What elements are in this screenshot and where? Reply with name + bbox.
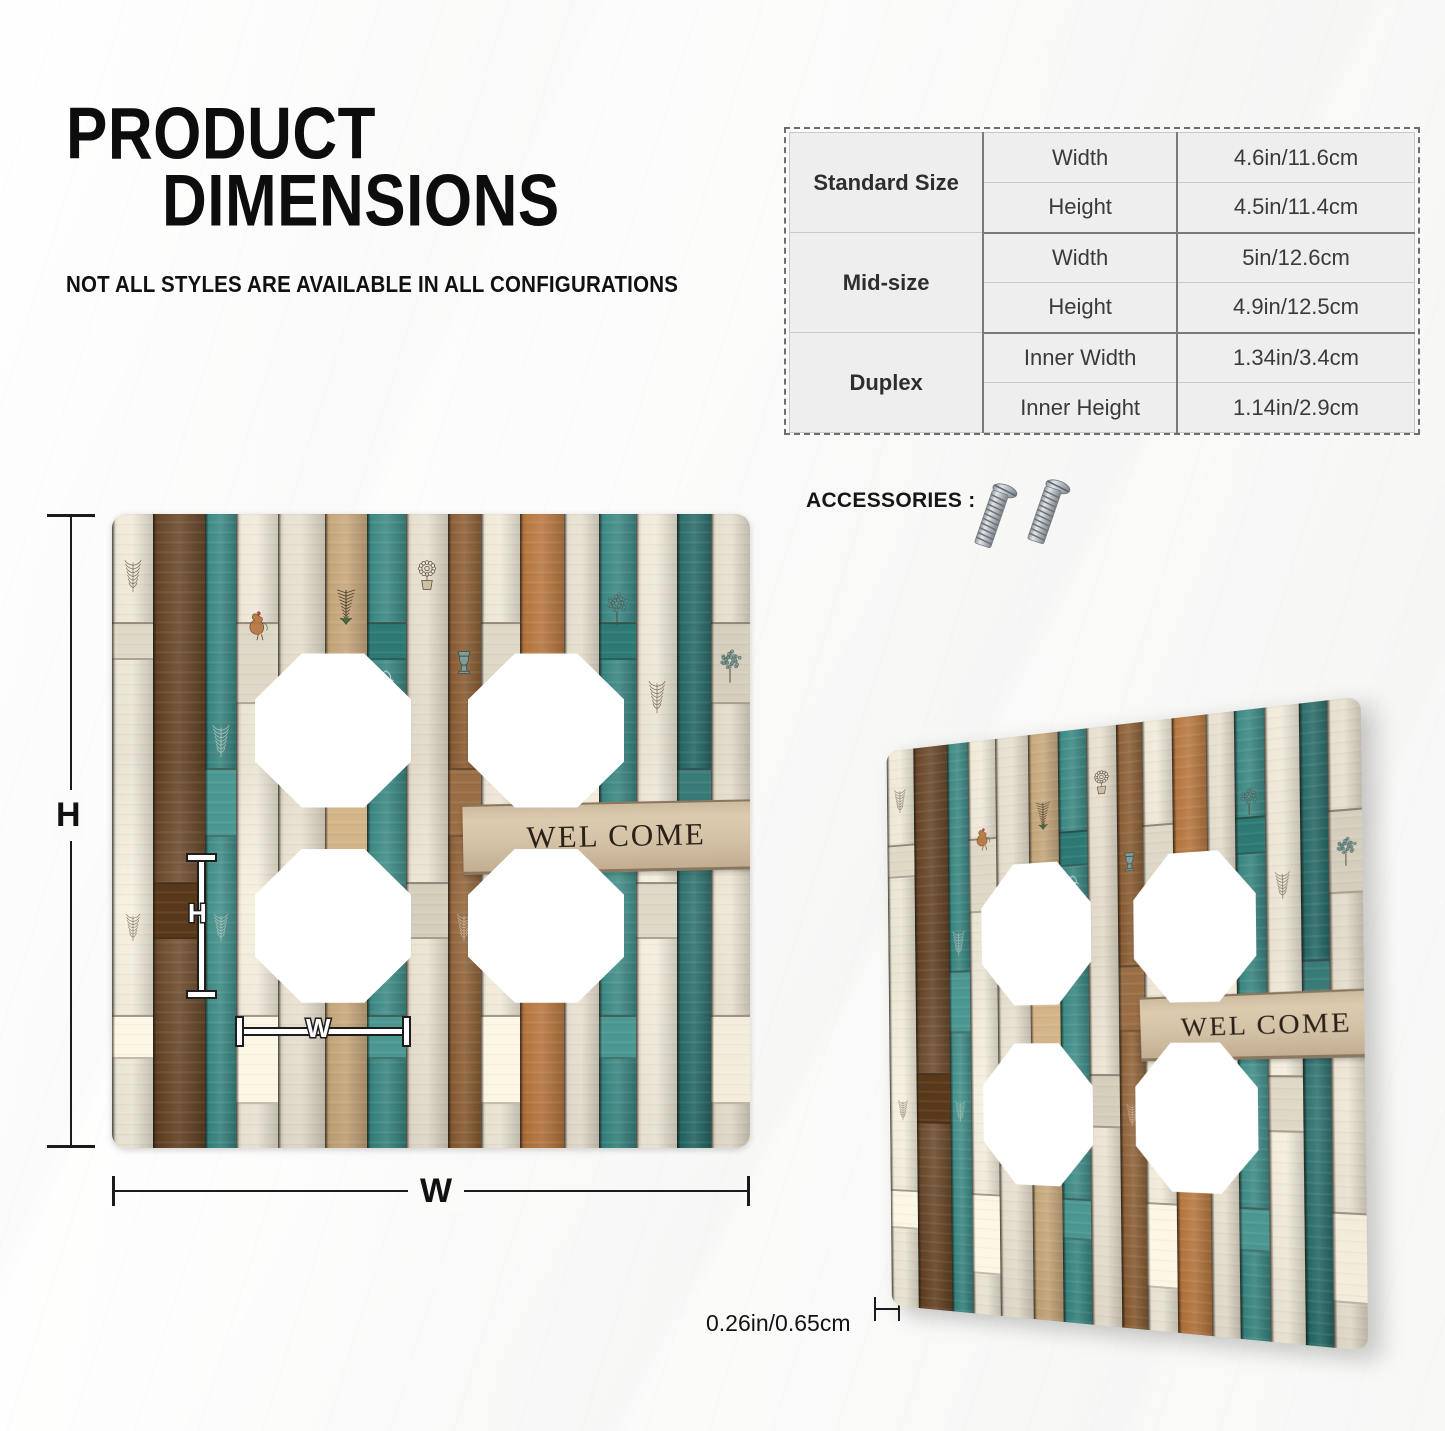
- botanical-sprig-icon: [952, 1096, 968, 1128]
- value-mid-width: 5in/12.6cm: [1177, 233, 1415, 283]
- tree-icon: [1238, 784, 1261, 824]
- plank: [367, 514, 406, 1148]
- row-group-mid-size: Mid-size: [790, 233, 984, 333]
- plank-block: [949, 970, 970, 1033]
- attr-standard-height: Height: [983, 183, 1177, 233]
- plank: [112, 514, 153, 1148]
- thickness-label: 0.26in/0.65cm: [706, 1310, 850, 1337]
- outlet-cutout-top-left: [255, 653, 411, 807]
- value-duplex-inner-height: 1.14in/2.9cm: [1177, 383, 1415, 433]
- flowerurn-icon: [1091, 768, 1112, 806]
- value-standard-width: 4.6in/11.6cm: [1177, 133, 1415, 183]
- plank-block: [1268, 1075, 1303, 1133]
- mounting-screw-icon: [1017, 471, 1074, 554]
- tree-icon: [717, 647, 743, 691]
- botanical-sprig-icon: [210, 907, 232, 947]
- outlet-cutout-bottom-left: [255, 849, 411, 1003]
- accessories-section: ACCESSORIES :: [806, 489, 976, 513]
- urn-icon: [451, 641, 477, 682]
- sprig-icon: [644, 673, 670, 720]
- accessories-label: ACCESSORIES :: [806, 489, 976, 513]
- welcome-sign-text-angled: WEL COME: [1180, 1007, 1352, 1044]
- plank-block: [1089, 1074, 1120, 1128]
- rooster-icon: [244, 609, 270, 648]
- outer-height-label: H: [52, 790, 85, 841]
- table-row: Duplex Inner Width 1.34in/3.4cm: [790, 333, 1415, 383]
- plank-block: [916, 1073, 950, 1124]
- plank-block: [636, 882, 677, 939]
- page-subtitle: NOT ALL STYLES ARE AVAILABLE IN ALL CONF…: [66, 272, 678, 299]
- fern-icon: [333, 584, 359, 631]
- plank-block: [1332, 1212, 1367, 1306]
- sprig-icon: [120, 552, 146, 599]
- tree-icon: [1333, 834, 1358, 875]
- row-group-duplex: Duplex: [790, 333, 984, 433]
- outer-width-label: W: [408, 1170, 464, 1213]
- plank-block: [1328, 807, 1363, 894]
- plank-block: [112, 1015, 153, 1059]
- inner-width-label: W: [306, 1013, 331, 1044]
- attr-duplex-inner-width: Inner Width: [983, 333, 1177, 383]
- table-row: Mid-size Width 5in/12.6cm: [790, 233, 1415, 283]
- mounting-screw-icon: [964, 475, 1021, 558]
- page-title-line-2: DIMENSIONS: [162, 163, 678, 242]
- plank-block: [887, 844, 914, 879]
- plank-block: [112, 622, 153, 660]
- plank-block: [1058, 830, 1087, 868]
- plank: [325, 514, 366, 1148]
- attr-duplex-inner-height: Inner Height: [983, 383, 1177, 433]
- plank-block: [367, 622, 406, 660]
- table-row: Standard Size Width 4.6in/11.6cm: [790, 133, 1415, 183]
- outlet-cutout-top-right: [468, 653, 624, 807]
- value-duplex-inner-width: 1.34in/3.4cm: [1177, 333, 1415, 383]
- value-standard-height: 4.5in/11.4cm: [1177, 183, 1415, 233]
- rooster-icon: [972, 826, 991, 858]
- outlet-cutout-bottom-right: [468, 849, 624, 1003]
- page-header: PRODUCT DIMENSIONS NOT ALL STYLES ARE AV…: [66, 96, 678, 296]
- plank: [205, 514, 236, 1148]
- plank-block: [1146, 1202, 1177, 1290]
- plank-block: [1239, 1207, 1270, 1253]
- dimensions-table: Standard Size Width 4.6in/11.6cm Height …: [784, 127, 1420, 435]
- plank-block: [205, 768, 236, 838]
- plank-block: [711, 622, 750, 704]
- attr-mid-width: Width: [983, 233, 1177, 283]
- attr-standard-width: Width: [983, 133, 1177, 183]
- wall-plate-front-view: WEL COME: [112, 514, 750, 1148]
- plank-block: [481, 1015, 520, 1104]
- plank-block: [599, 622, 636, 660]
- flowerurn-icon: [414, 558, 440, 602]
- sprig-icon: [208, 717, 234, 764]
- sprig-icon: [891, 783, 909, 820]
- botanical-sprig-icon: [122, 907, 144, 947]
- plank-block: [599, 1015, 636, 1059]
- botanical-sprig-icon: [895, 1095, 911, 1126]
- plank: [406, 514, 447, 1148]
- plank-block: [367, 1015, 406, 1059]
- plank: [153, 514, 205, 1148]
- inner-height-label: H: [188, 898, 207, 929]
- sprig-icon: [949, 925, 968, 962]
- value-mid-height: 4.9in/12.5cm: [1177, 283, 1415, 333]
- plank: [236, 514, 277, 1148]
- plank-block: [406, 882, 447, 939]
- plank-block: [972, 1193, 1001, 1275]
- plank-block: [1235, 815, 1266, 855]
- urn-icon: [1119, 844, 1141, 880]
- wall-plate-angled-view: WEL COME: [872, 726, 1342, 1326]
- plank: [278, 514, 326, 1148]
- attr-mid-height: Height: [983, 283, 1177, 333]
- plank-block: [1062, 1198, 1091, 1241]
- sprig-icon: [1271, 864, 1295, 906]
- plank: [913, 745, 952, 1312]
- plank-block: [711, 1015, 750, 1104]
- plank-block: [891, 1189, 918, 1230]
- fern-icon: [1033, 797, 1053, 836]
- row-group-standard: Standard Size: [790, 133, 984, 233]
- tree-icon: [604, 590, 630, 634]
